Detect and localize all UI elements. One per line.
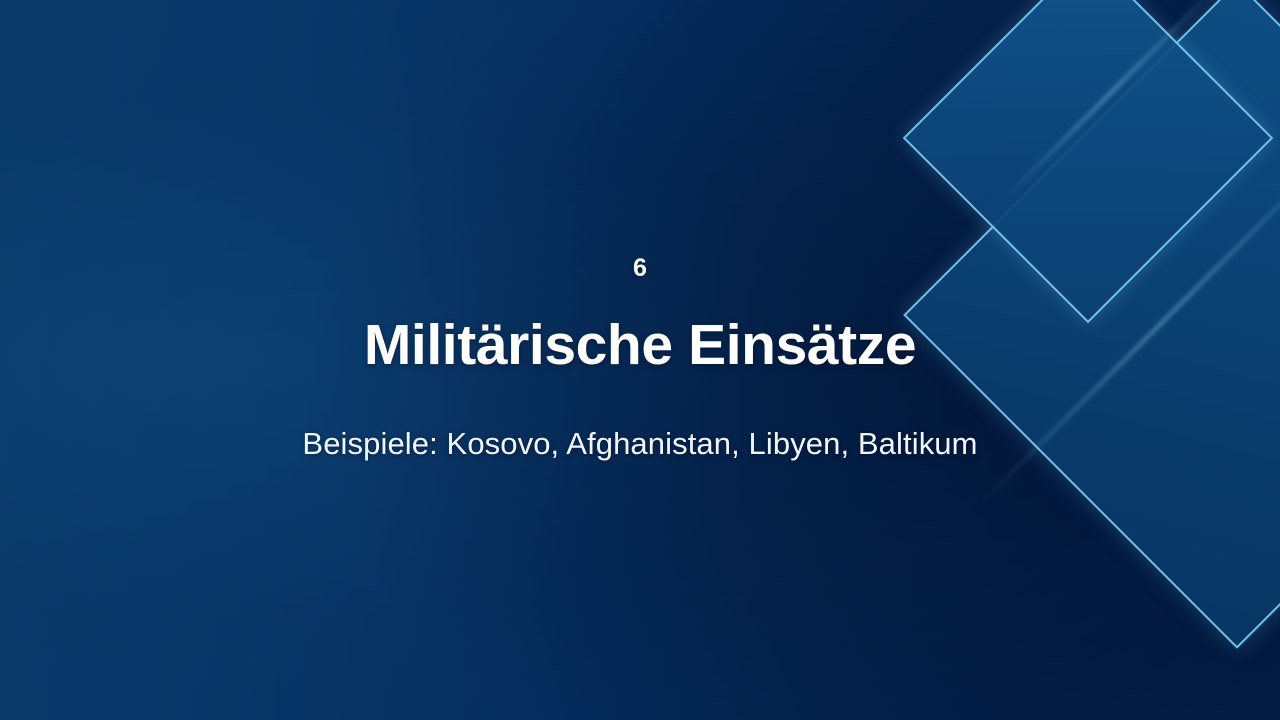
slide-content: 6 Militärische Einsätze Beispiele: Kosov… — [0, 0, 1280, 720]
presentation-slide: 6 Militärische Einsätze Beispiele: Kosov… — [0, 0, 1280, 720]
slide-number: 6 — [633, 256, 647, 281]
page-title: Militärische Einsätze — [364, 315, 916, 377]
slide-subtitle: Beispiele: Kosovo, Afghanistan, Libyen, … — [302, 425, 977, 464]
